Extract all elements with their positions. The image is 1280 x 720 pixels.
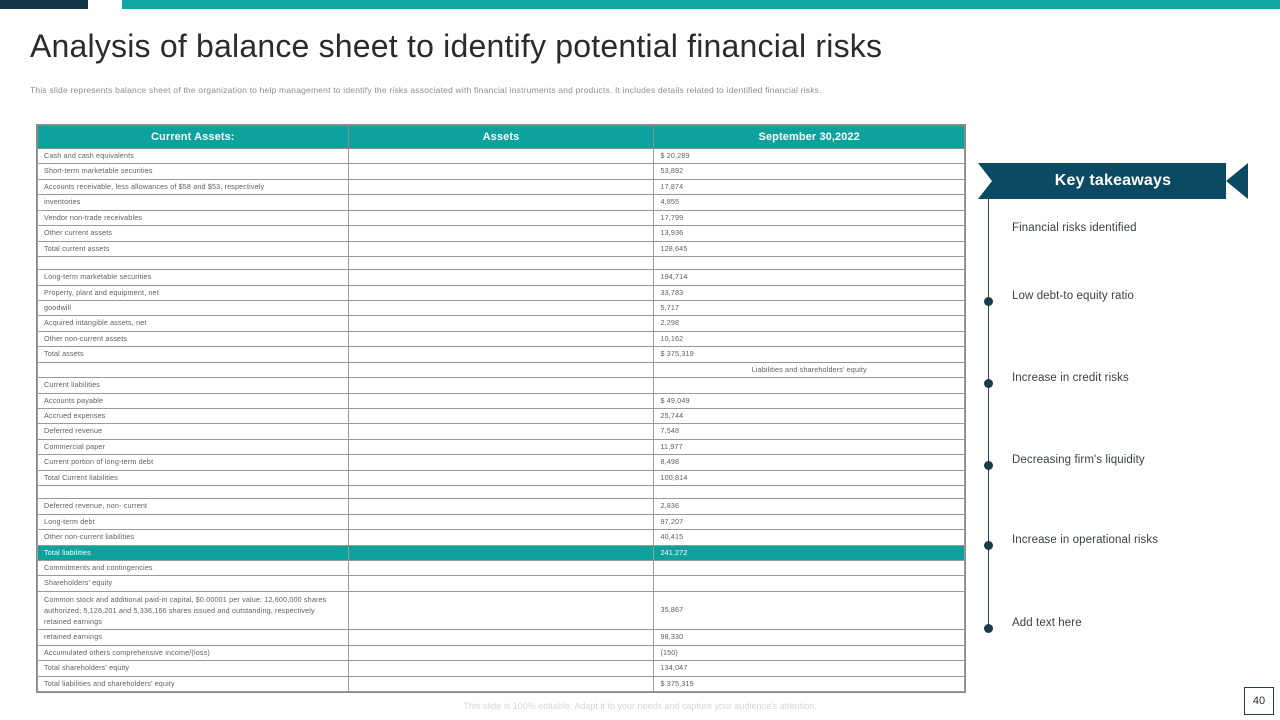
table-cell-label: Other current assets xyxy=(38,226,349,241)
key-takeaways-label: Key takeaways xyxy=(1055,172,1171,190)
key-takeaway-item-0: Financial risks identified xyxy=(1012,222,1137,234)
table-cell-value: 194,714 xyxy=(654,270,965,285)
table-row: Common stock and additional paid-in capi… xyxy=(38,591,965,629)
table-cell-value: 11,977 xyxy=(654,439,965,454)
table-row: Accounts payable$ 49,049 xyxy=(38,393,965,408)
table-cell-value: 98,330 xyxy=(654,630,965,645)
table-cell-assets xyxy=(348,164,654,179)
table-cell-assets xyxy=(348,676,654,691)
table-row: Accrued expenses25,744 xyxy=(38,409,965,424)
table-row: Shareholders' equity xyxy=(38,576,965,591)
table-row: Other current assets13,936 xyxy=(38,226,965,241)
table-cell-label: Current portion of long-term debt xyxy=(38,455,349,470)
table-cell-label: Property, plant and equipment, net xyxy=(38,285,349,300)
table-header-row: Current Assets: Assets September 30,2022 xyxy=(38,126,965,149)
table-cell-label: retained earnings xyxy=(38,630,349,645)
table-cell-label: Other non-current assets xyxy=(38,331,349,346)
table-cell-assets xyxy=(348,393,654,408)
table-cell-assets xyxy=(348,645,654,660)
table-row: Liabilities and shareholders' equity xyxy=(38,362,965,377)
table-cell-assets xyxy=(348,241,654,256)
table-row: inventories4,855 xyxy=(38,195,965,210)
table-cell-label: Vendor non-trade receivables xyxy=(38,210,349,225)
table-cell-value: 128,645 xyxy=(654,241,965,256)
table-cell-assets xyxy=(348,424,654,439)
table-cell-assets xyxy=(348,378,654,393)
slide-root: Analysis of balance sheet to identify po… xyxy=(0,0,1280,720)
table-row: Total liabilities and shareholders' equi… xyxy=(38,676,965,691)
table-cell-label: Other non-current liabilities xyxy=(38,530,349,545)
key-takeaway-dot-1 xyxy=(984,297,993,306)
table-row: Short-term marketable securities53,892 xyxy=(38,164,965,179)
table-cell-label xyxy=(38,362,349,377)
table-cell-label xyxy=(38,257,349,270)
table-cell-label: Commercial paper xyxy=(38,439,349,454)
table-cell-assets xyxy=(348,347,654,362)
table-cell-label: Total liabilities xyxy=(38,545,349,560)
table-row: Commercial paper11,977 xyxy=(38,439,965,454)
table-cell-label: Short-term marketable securities xyxy=(38,164,349,179)
table-cell-assets xyxy=(348,210,654,225)
key-takeaway-item-4: Increase in operational risks xyxy=(1012,534,1158,546)
table-cell-assets xyxy=(348,560,654,575)
table-row: Accounts receivable, less allowances of … xyxy=(38,179,965,194)
table-row: Other non-current assets10,162 xyxy=(38,331,965,346)
table-cell-label: Accrued expenses xyxy=(38,409,349,424)
key-takeaway-dot-2 xyxy=(984,379,993,388)
table-cell-assets xyxy=(348,149,654,164)
table-row: Cash and cash equivalents$ 20,289 xyxy=(38,149,965,164)
table-row: Vendor non-trade receivables17,799 xyxy=(38,210,965,225)
table-body: Cash and cash equivalents$ 20,289Short-t… xyxy=(38,149,965,692)
table-cell-assets xyxy=(348,545,654,560)
table-cell-label: Common stock and additional paid-in capi… xyxy=(38,591,349,629)
table-cell-value: $ 375,319 xyxy=(654,347,965,362)
key-takeaway-item-3: Decreasing firm's liquidity xyxy=(1012,454,1145,466)
table-cell-assets xyxy=(348,576,654,591)
table-cell-assets xyxy=(348,195,654,210)
table-cell-assets xyxy=(348,530,654,545)
table-cell-assets xyxy=(348,316,654,331)
table-cell-value: 33,783 xyxy=(654,285,965,300)
table-cell-label: Acquired intangible assets, net xyxy=(38,316,349,331)
table-row: Deferred revenue, non- current2,836 xyxy=(38,499,965,514)
table-cell-value: $ 375,319 xyxy=(654,676,965,691)
table-cell-label: Total liabilities and shareholders' equi… xyxy=(38,676,349,691)
table-cell-value xyxy=(654,257,965,270)
table-row xyxy=(38,257,965,270)
table-cell-value: 35,867 xyxy=(654,591,965,629)
table-cell-label: Commitments and contingencies xyxy=(38,560,349,575)
page-title: Analysis of balance sheet to identify po… xyxy=(30,28,882,65)
table-cell-assets xyxy=(348,226,654,241)
table-row: Long-term debt97,207 xyxy=(38,514,965,529)
table-cell-assets xyxy=(348,362,654,377)
table-cell-value: 8,498 xyxy=(654,455,965,470)
balance-sheet-table: Current Assets: Assets September 30,2022… xyxy=(36,124,966,693)
table-cell-value: 13,936 xyxy=(654,226,965,241)
key-takeaways-banner: Key takeaways xyxy=(978,163,1248,199)
table-row: Accumulated others comprehensive income/… xyxy=(38,645,965,660)
table-cell-value: 241,272 xyxy=(654,545,965,560)
table-header-current-assets: Current Assets: xyxy=(38,126,349,149)
table-cell-value: $ 20,289 xyxy=(654,149,965,164)
table-cell-value xyxy=(654,576,965,591)
page-number-badge: 40 xyxy=(1244,687,1274,715)
table-cell-value: 2,836 xyxy=(654,499,965,514)
table-cell-label: Cash and cash equivalents xyxy=(38,149,349,164)
table-cell-value: 53,892 xyxy=(654,164,965,179)
table-cell-assets xyxy=(348,661,654,676)
key-takeaways-timeline xyxy=(988,199,989,631)
table-cell-assets xyxy=(348,591,654,629)
table-header-assets: Assets xyxy=(348,126,654,149)
table-cell-assets xyxy=(348,630,654,645)
table-cell-label: inventories xyxy=(38,195,349,210)
table-cell-value: $ 49,049 xyxy=(654,393,965,408)
page-subtitle: This slide represents balance sheet of t… xyxy=(30,85,1030,95)
table-cell-assets xyxy=(348,285,654,300)
table-row: Deferred revenue7,548 xyxy=(38,424,965,439)
table-cell-label: goodwill xyxy=(38,300,349,315)
key-takeaway-dot-3 xyxy=(984,461,993,470)
table-cell-value xyxy=(654,486,965,499)
table-row: Other non-current liabilities40,415 xyxy=(38,530,965,545)
table-cell-value xyxy=(654,560,965,575)
table-cell-value: 17,799 xyxy=(654,210,965,225)
key-takeaway-item-5: Add text here xyxy=(1012,617,1082,629)
table-cell-value: 7,548 xyxy=(654,424,965,439)
table-row xyxy=(38,486,965,499)
table-cell-assets xyxy=(348,300,654,315)
table-row: Total shareholders' equity134,047 xyxy=(38,661,965,676)
table-row: Long-term marketable securities194,714 xyxy=(38,270,965,285)
table-cell-assets xyxy=(348,470,654,485)
table-cell-label: Total shareholders' equity xyxy=(38,661,349,676)
table-cell-label: Shareholders' equity xyxy=(38,576,349,591)
table-row: Total current assets128,645 xyxy=(38,241,965,256)
table-cell-label: Deferred revenue, non- current xyxy=(38,499,349,514)
table-cell-value: 100,814 xyxy=(654,470,965,485)
table-cell-assets xyxy=(348,270,654,285)
table-cell-label: Accumulated others comprehensive income/… xyxy=(38,645,349,660)
table-row: Total liabilities241,272 xyxy=(38,545,965,560)
table-cell-label xyxy=(38,486,349,499)
table-cell-value: 5,717 xyxy=(654,300,965,315)
table-cell-assets xyxy=(348,514,654,529)
table-cell-value: 25,744 xyxy=(654,409,965,424)
table-cell-value xyxy=(654,378,965,393)
top-bar-teal-accent xyxy=(122,0,1280,9)
table-row: retained earnings98,330 xyxy=(38,630,965,645)
table-cell-assets xyxy=(348,331,654,346)
table-cell-label: Long-term marketable securities xyxy=(38,270,349,285)
table-cell-value: 4,855 xyxy=(654,195,965,210)
key-takeaway-dot-4 xyxy=(984,541,993,550)
table-cell-value: 10,162 xyxy=(654,331,965,346)
table-cell-assets xyxy=(348,455,654,470)
table-cell-assets xyxy=(348,257,654,270)
table-row: Current portion of long-term debt8,498 xyxy=(38,455,965,470)
table-header-date: September 30,2022 xyxy=(654,126,965,149)
table-cell-assets xyxy=(348,486,654,499)
table-row: Acquired intangible assets, net2,298 xyxy=(38,316,965,331)
table-cell-label: Current liabilities xyxy=(38,378,349,393)
table-cell-label: Total assets xyxy=(38,347,349,362)
key-takeaway-item-2: Increase in credit risks xyxy=(1012,372,1129,384)
table-row: Current liabilities xyxy=(38,378,965,393)
table-cell-value: 97,207 xyxy=(654,514,965,529)
table-cell-label: Total Current liabilities xyxy=(38,470,349,485)
key-takeaway-item-1: Low debt-to equity ratio xyxy=(1012,290,1134,302)
table-cell-assets xyxy=(348,409,654,424)
table-cell-assets xyxy=(348,179,654,194)
table-row: goodwill5,717 xyxy=(38,300,965,315)
table-cell-value: (150) xyxy=(654,645,965,660)
top-bar-navy-accent xyxy=(0,0,88,9)
table-cell-label: Total current assets xyxy=(38,241,349,256)
table-cell-label: Accounts payable xyxy=(38,393,349,408)
table-cell-value: 2,298 xyxy=(654,316,965,331)
key-takeaway-dot-5 xyxy=(984,624,993,633)
table-cell-label: Accounts receivable, less allowances of … xyxy=(38,179,349,194)
footer-note: This slide is 100% editable. Adapt it to… xyxy=(0,701,1280,711)
table-row: Total assets$ 375,319 xyxy=(38,347,965,362)
table-row: Property, plant and equipment, net33,783 xyxy=(38,285,965,300)
table-cell-assets xyxy=(348,499,654,514)
table-row: Total Current liabilities100,814 xyxy=(38,470,965,485)
table-row: Commitments and contingencies xyxy=(38,560,965,575)
table-cell-assets xyxy=(348,439,654,454)
table-cell-label: Long-term debt xyxy=(38,514,349,529)
table-cell-value: 17,874 xyxy=(654,179,965,194)
table-cell-value: Liabilities and shareholders' equity xyxy=(654,362,965,377)
table-cell-value: 134,047 xyxy=(654,661,965,676)
table-cell-label: Deferred revenue xyxy=(38,424,349,439)
table-cell-value: 40,415 xyxy=(654,530,965,545)
